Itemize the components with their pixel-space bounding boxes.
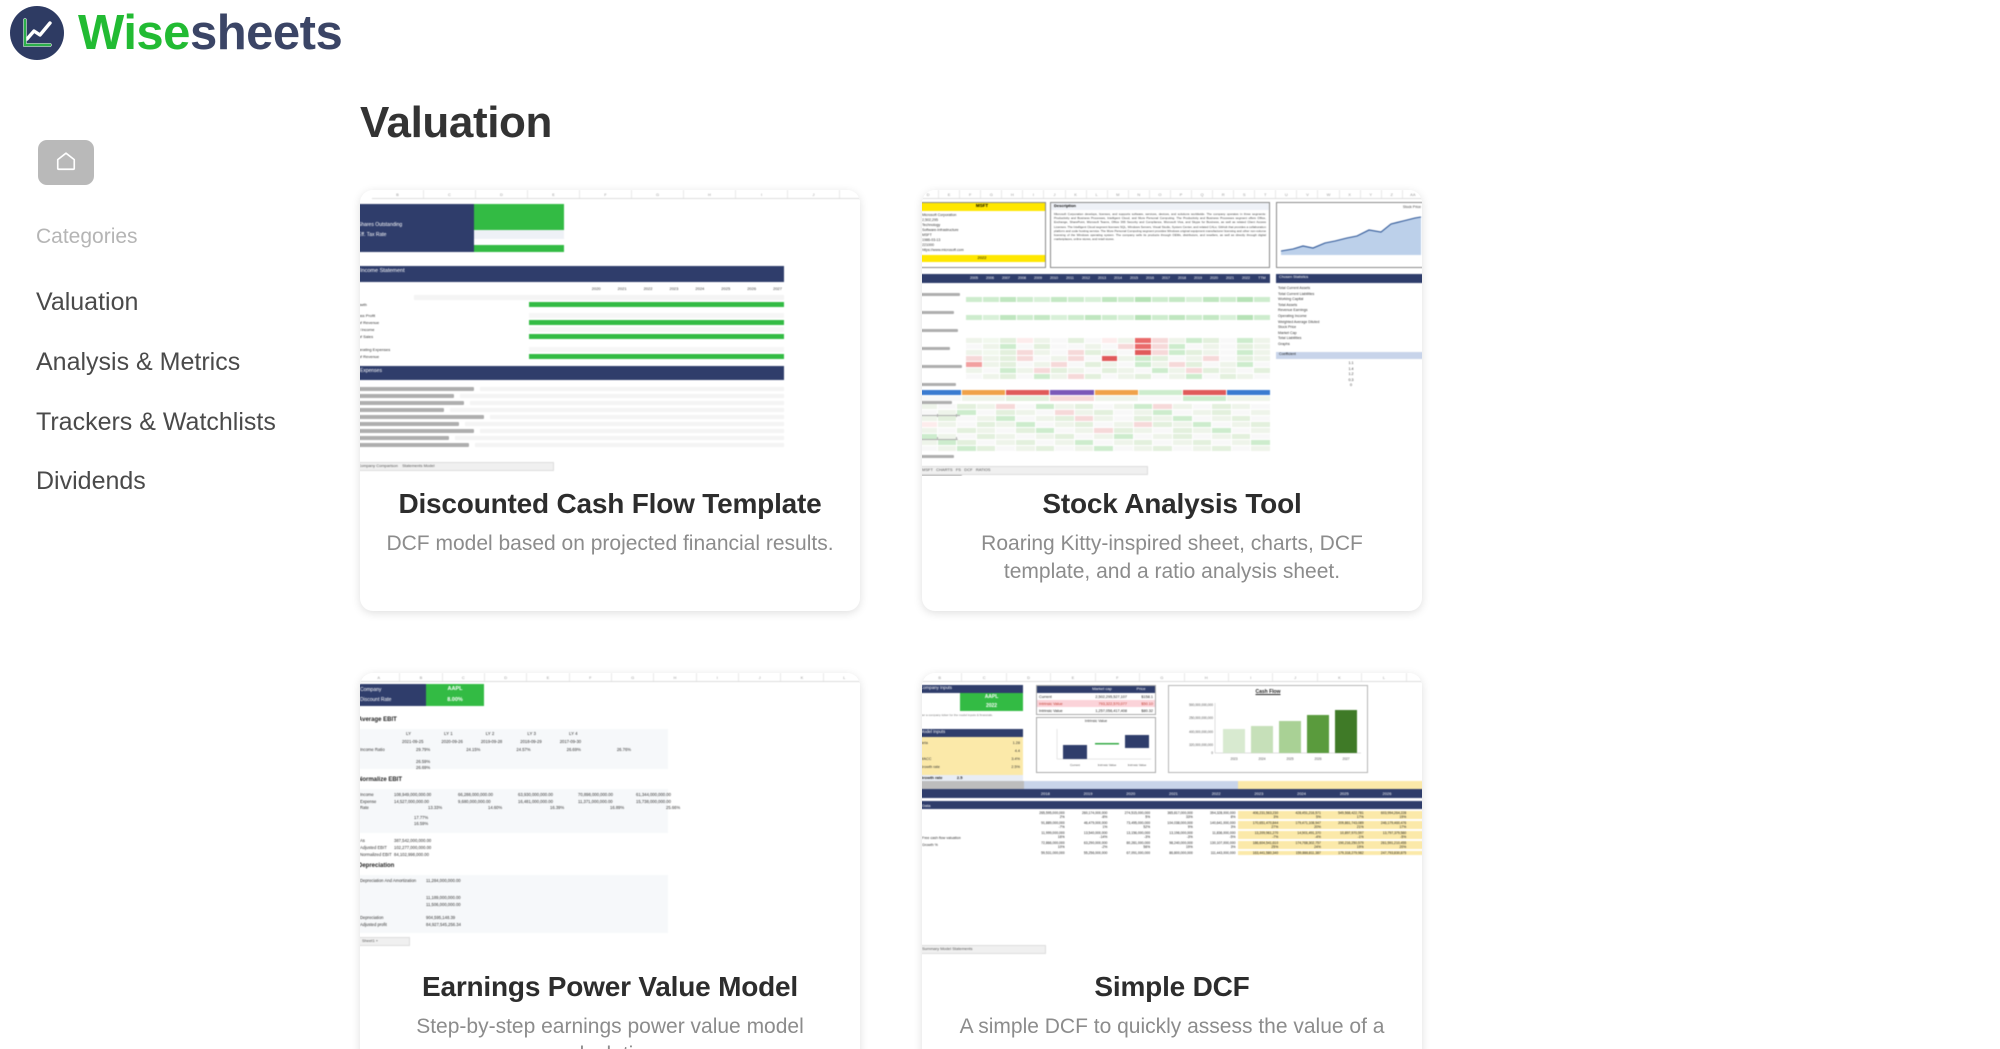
cash-flow-chart: Cash Flow 500,000,000,000 250,000,000,00… xyxy=(1168,685,1368,773)
sidebar-item-analysis-metrics[interactable]: Analysis & Metrics xyxy=(0,333,300,393)
svg-text:2027: 2027 xyxy=(1342,757,1349,761)
dcf-template-preview: BCDEFGHIJK Shares Outstanding Eff. Tax R… xyxy=(360,190,860,476)
card-title: Simple DCF xyxy=(938,971,1406,1003)
card-body: Earnings Power Value Model Step-by-step … xyxy=(360,959,860,1049)
sidebar-item-valuation[interactable]: Valuation xyxy=(0,273,300,333)
categories-label: Categories xyxy=(36,225,300,249)
card-description: Step-by-step earnings power value model … xyxy=(376,1013,844,1049)
svg-text:2026: 2026 xyxy=(1314,757,1321,761)
sidebar-item-trackers-watchlists[interactable]: Trackers & Watchlists xyxy=(0,393,300,453)
svg-text:Intrinsic Value: Intrinsic Value xyxy=(1128,763,1147,767)
spreadsheet-column-headers: DEFGHIJKLM NOPQRSTUVW XYZAAAB xyxy=(922,190,1422,199)
card-description: DCF model based on projected financial r… xyxy=(376,530,844,558)
template-card-stock-analysis[interactable]: DEFGHIJKLM NOPQRSTUVW XYZAAAB MSFT Micro… xyxy=(922,190,1422,611)
svg-text:320,000,000,000: 320,000,000,000 xyxy=(1189,743,1213,747)
svg-text:Intrinsic Value: Intrinsic Value xyxy=(1098,763,1117,767)
simple-dcf-preview: BCDEFGHIJKLM Company Inputs AAPL2022 Ent… xyxy=(922,673,1422,959)
sidebar-item-dividends[interactable]: Dividends xyxy=(0,452,300,512)
line-chart-icon xyxy=(10,6,64,60)
svg-text:500,000,000,000: 500,000,000,000 xyxy=(1189,703,1213,707)
card-body: Simple DCF A simple DCF to quickly asses… xyxy=(922,959,1422,1049)
card-body: Stock Analysis Tool Roaring Kitty-inspir… xyxy=(922,476,1422,611)
svg-text:2025: 2025 xyxy=(1286,757,1293,761)
card-title: Stock Analysis Tool xyxy=(938,488,1406,520)
stock-analysis-preview: DEFGHIJKLM NOPQRSTUVW XYZAAAB MSFT Micro… xyxy=(922,190,1422,476)
page-title: Valuation xyxy=(360,98,1960,148)
card-title: Discounted Cash Flow Template xyxy=(376,488,844,520)
category-nav: Valuation Analysis & Metrics Trackers & … xyxy=(0,273,300,512)
card-description: A simple DCF to quickly assess the value… xyxy=(938,1013,1406,1049)
epv-model-preview: ABCDEFGHIJKL CompanyDiscount Rate AAPL8.… xyxy=(360,673,860,959)
dcf-assumptions-block: Shares Outstanding Eff. Tax Rate xyxy=(360,204,564,252)
brand-logo[interactable]: Wisesheets xyxy=(10,6,342,60)
card-body: Discounted Cash Flow Template DCF model … xyxy=(360,476,860,584)
svg-text:0: 0 xyxy=(1211,751,1213,755)
svg-text:2023: 2023 xyxy=(1230,757,1237,761)
main-content: Valuation BCDEFGHIJK Shares Outstanding … xyxy=(300,0,2000,1049)
template-card-dcf[interactable]: BCDEFGHIJK Shares Outstanding Eff. Tax R… xyxy=(360,190,860,611)
app-root: Wisesheets Categories Valuation Analysis… xyxy=(0,0,2000,1049)
svg-text:400,000,000,000: 400,000,000,000 xyxy=(1189,730,1213,734)
sidebar: Categories Valuation Analysis & Metrics … xyxy=(0,140,300,512)
template-card-grid: BCDEFGHIJK Shares Outstanding Eff. Tax R… xyxy=(360,190,1960,1049)
home-icon xyxy=(55,150,77,175)
svg-text:2024: 2024 xyxy=(1258,757,1265,761)
spreadsheet-column-headers: ABCDEFGHIJKL xyxy=(360,673,860,682)
spreadsheet-column-headers: BCDEFGHIJKLM xyxy=(922,673,1422,682)
svg-text:Current: Current xyxy=(1070,763,1080,767)
dcf-income-statement-header: Income Statement xyxy=(360,266,784,282)
template-card-epv[interactable]: ABCDEFGHIJKL CompanyDiscount Rate AAPL8.… xyxy=(360,673,860,1049)
template-card-simple-dcf[interactable]: BCDEFGHIJKLM Company Inputs AAPL2022 Ent… xyxy=(922,673,1422,1049)
card-description: Roaring Kitty-inspired sheet, charts, DC… xyxy=(938,530,1406,585)
card-title: Earnings Power Value Model xyxy=(376,971,844,1003)
home-button[interactable] xyxy=(38,140,94,185)
svg-text:250,000,000,000: 250,000,000,000 xyxy=(1189,716,1213,720)
spreadsheet-column-headers: BCDEFGHIJK xyxy=(372,190,860,199)
brand-text-primary: Wise xyxy=(78,6,190,60)
